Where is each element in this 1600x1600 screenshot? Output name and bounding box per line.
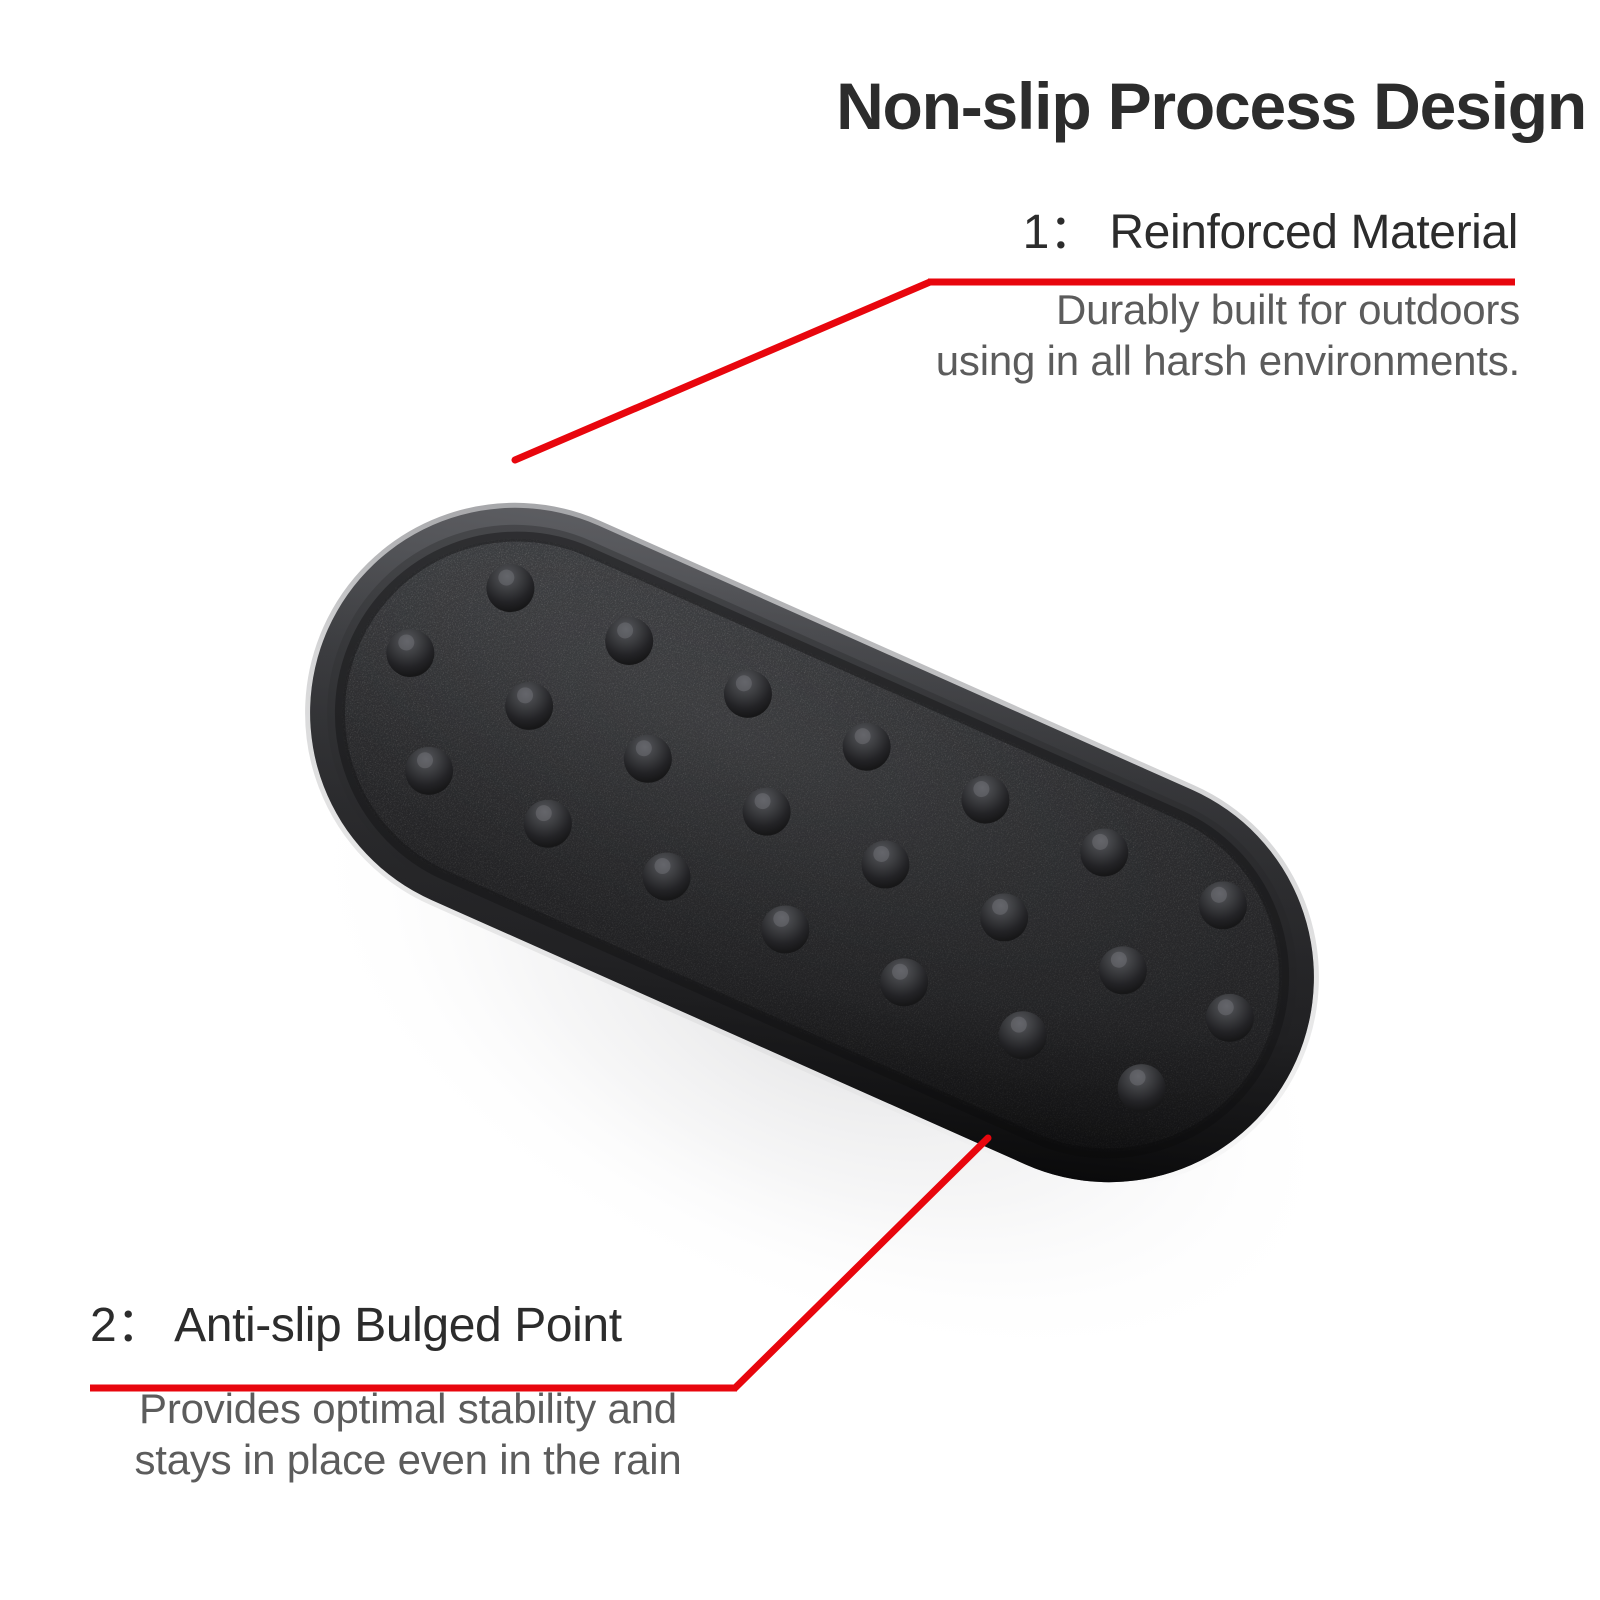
callout-reinforced-material: 1： Reinforced Material Durably built for…: [860, 205, 1520, 387]
callout-2-description: Provides optimal stability and stays in …: [88, 1383, 768, 1485]
callout-1-description: Durably built for outdoors using in all …: [860, 284, 1520, 386]
callout-2-heading: 2： Anti-slip Bulged Point: [88, 1298, 768, 1353]
callout-1-description-line1: Durably built for outdoors: [860, 284, 1520, 335]
callout-1-heading: 1： Reinforced Material: [860, 205, 1520, 260]
infographic-canvas: Non-slip Process Design 1： Reinforced Ma…: [0, 0, 1600, 1600]
page-title: Non-slip Process Design: [626, 72, 1586, 141]
callout-2-description-line1: Provides optimal stability and: [88, 1383, 728, 1434]
callout-1-description-line2: using in all harsh environments.: [860, 335, 1520, 386]
callout-anti-slip-bulged-point: 2： Anti-slip Bulged Point Provides optim…: [88, 1298, 768, 1486]
callout-2-description-line2: stays in place even in the rain: [88, 1434, 728, 1485]
